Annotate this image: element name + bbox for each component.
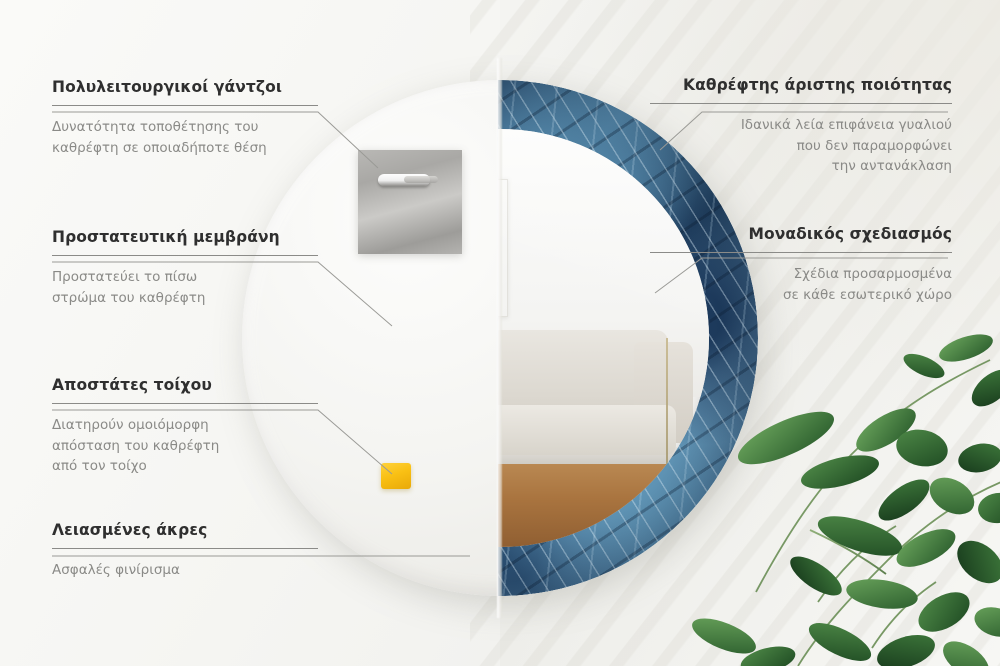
callout-desc: Δυνατότητα τοποθέτησης του καθρέφτη σε ο… — [52, 117, 318, 158]
callout-protective-membrane: Προστατευτική μεμβράνη Προστατεύει το πί… — [52, 228, 318, 308]
callout-title: Καθρέφτης άριστης ποιότητας — [650, 76, 952, 94]
callout-unique-design: Μοναδικός σχεδιασμός Σχέδια προσαρμοσμέν… — [650, 225, 952, 305]
callout-desc: Προστατεύει το πίσω στρώμα του καθρέφτη — [52, 267, 318, 308]
callout-multifunctional-hooks: Πολυλειτουργικοί γάντζοι Δυνατότητα τοπο… — [52, 78, 318, 158]
callout-title: Προστατευτική μεμβράνη — [52, 228, 318, 246]
callout-title: Αποστάτες τοίχου — [52, 376, 318, 394]
callout-title: Λειασμένες άκρες — [52, 521, 318, 539]
hook-slot-inner-icon — [404, 176, 438, 183]
callout-wall-spacers: Αποστάτες τοίχου Διατηρούν ομοιόμορφη απ… — [52, 376, 318, 477]
callout-rule — [650, 103, 952, 104]
callout-title: Μοναδικός σχεδιασμός — [650, 225, 952, 243]
callout-top-quality-mirror: Καθρέφτης άριστης ποιότητας Ιδανικά λεία… — [650, 76, 952, 177]
decorative-foliage — [690, 330, 1000, 666]
mirror-split-seam — [497, 58, 502, 618]
spacer-pad — [381, 463, 411, 489]
callout-smoothed-edges: Λειασμένες άκρες Ασφαλές φινίρισμα — [52, 521, 318, 581]
callout-desc: Ιδανικά λεία επιφάνεια γυαλιού που δεν π… — [650, 115, 952, 177]
callout-desc: Ασφαλές φινίρισμα — [52, 560, 318, 581]
callout-desc: Διατηρούν ομοιόμορφη απόσταση του καθρέφ… — [52, 415, 318, 477]
foliage-leaves — [690, 330, 1000, 666]
hook-plate — [358, 150, 462, 254]
callout-rule — [52, 403, 318, 404]
reflected-floor-lamp — [666, 338, 668, 464]
callout-rule — [650, 252, 952, 253]
callout-rule — [52, 548, 318, 549]
callout-rule — [52, 255, 318, 256]
callout-desc: Σχέδια προσαρμοσμένα σε κάθε εσωτερικό χ… — [650, 264, 952, 305]
callout-title: Πολυλειτουργικοί γάντζοι — [52, 78, 318, 96]
callout-rule — [52, 105, 318, 106]
infographic-stage: Πολυλειτουργικοί γάντζοι Δυνατότητα τοπο… — [0, 0, 1000, 666]
